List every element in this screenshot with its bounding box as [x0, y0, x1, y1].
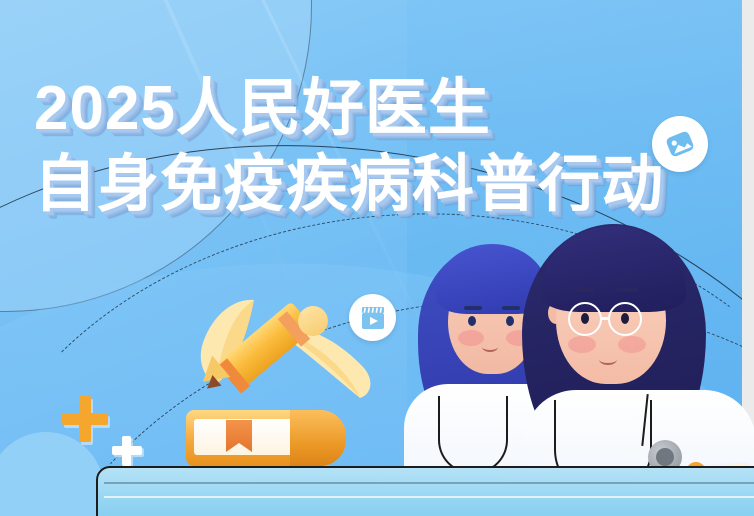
stethoscope-chestpiece-inner	[656, 448, 674, 466]
video-icon-glyph	[358, 303, 388, 333]
doctor1-eyebrow-right	[502, 306, 520, 310]
desk-edge-line-light	[104, 496, 754, 498]
doctor1-cheek-left	[458, 330, 484, 346]
photo-icon-glyph	[663, 127, 697, 161]
doctor2-hair-top	[542, 226, 686, 312]
doctor2-eyebrow-right	[616, 288, 638, 292]
doctor2-cheek-right	[618, 336, 646, 353]
doctor2-glasses-bridge	[600, 317, 610, 320]
doctor1-eye-left	[468, 316, 476, 326]
doctor2-glasses-left-lens	[568, 302, 602, 336]
plus-orange-icon	[62, 396, 108, 442]
photo-image-icon[interactable]	[652, 116, 708, 172]
desk-edge-line-dark	[104, 482, 754, 484]
doctor2-mouth	[599, 354, 617, 365]
poster-title: 2025人民好医生 自身免疫疾病科普行动	[34, 78, 664, 216]
open-book-icon	[186, 410, 346, 466]
counter-desk	[96, 466, 754, 516]
doctor1-stethoscope-icon	[438, 396, 508, 474]
doctor2-eyebrow-left	[572, 288, 594, 292]
doctor2-cheek-left	[568, 336, 596, 353]
doctor1-mouth	[482, 342, 498, 352]
book-spine	[290, 410, 346, 466]
title-line-2: 自身免疫疾病科普行动	[34, 154, 664, 216]
poster-banner: 2025人民好医生 自身免疫疾病科普行动	[0, 0, 754, 516]
title-line-1: 2025人民好医生	[34, 78, 664, 140]
doctor1-eyebrow-left	[464, 306, 482, 310]
doctor2-glasses-right-lens	[608, 302, 642, 336]
pencil-cap	[298, 306, 328, 336]
video-clapperboard-icon[interactable]	[349, 294, 396, 341]
doctor1-eye-right	[506, 316, 514, 326]
plus-white-icon	[112, 436, 142, 466]
